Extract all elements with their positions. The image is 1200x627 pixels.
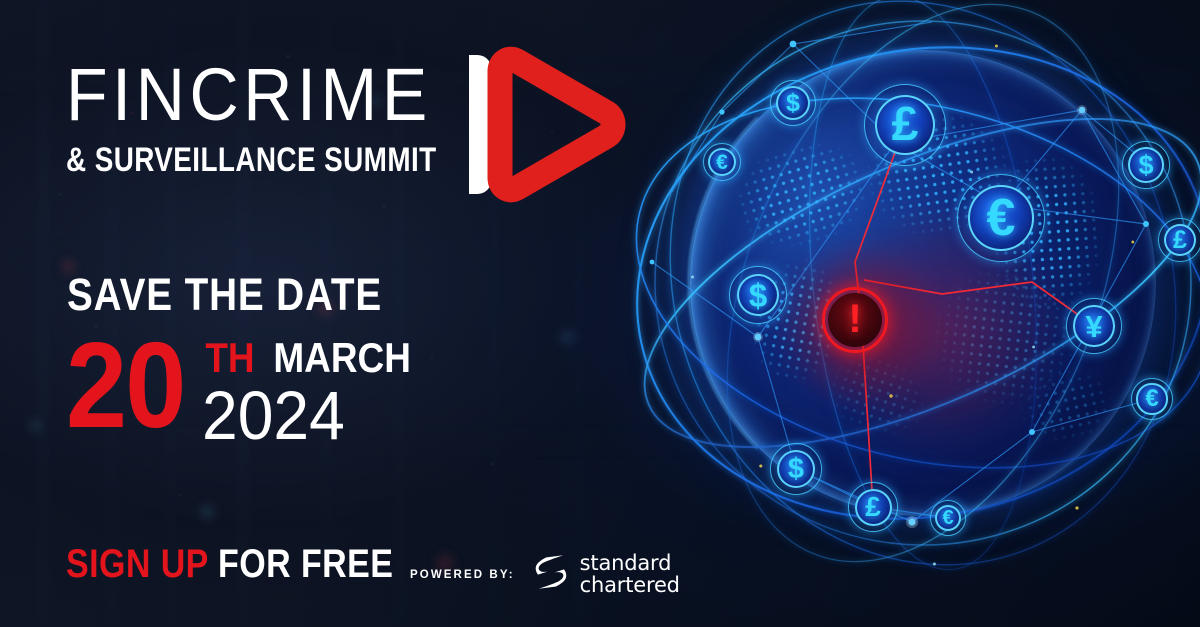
euro-symbol-icon: € (942, 508, 953, 528)
event-year: 2024 (202, 383, 405, 449)
currency-badge-dollar: $ (1122, 141, 1170, 189)
brand-logo (455, 37, 630, 212)
save-the-date-heading: SAVE THE DATE (67, 272, 382, 317)
currency-badge-pound: £ (848, 482, 898, 532)
event-promo-banner: ! $€£$€£$¥€$£€ FINCRIME & SURVEILLANCE S… (0, 0, 1200, 627)
currency-badge-dollar: $ (770, 443, 822, 495)
badge-inner-disc: € (708, 148, 736, 176)
sponsor-block: POWERED BY: standard chartered (410, 552, 680, 597)
standard-chartered-wordmark: standard chartered (580, 553, 680, 596)
event-month: MARCH (273, 337, 411, 379)
dollar-symbol-icon: $ (749, 279, 767, 312)
sponsor-name-line2: chartered (580, 575, 680, 596)
page-subtitle: & SURVEILLANCE SUMMIT (66, 143, 437, 177)
currency-badge-euro: € (703, 143, 741, 181)
dollar-symbol-icon: $ (786, 91, 800, 116)
currency-badge-pound: £ (864, 84, 946, 166)
badge-inner-disc: € (968, 185, 1033, 250)
powered-by-label: POWERED BY: (410, 569, 515, 581)
event-title-block: FINCRIME & SURVEILLANCE SUMMIT (66, 57, 518, 177)
event-date-block: 20 TH MARCH 2024 (66, 333, 420, 449)
page-title: FINCRIME (66, 61, 482, 129)
currency-badge-dollar: $ (770, 80, 816, 126)
badge-inner-disc: € (1136, 383, 1167, 414)
badge-inner-disc: ¥ (1073, 305, 1114, 346)
pound-symbol-icon: £ (1173, 228, 1187, 253)
euro-symbol-icon: € (1145, 387, 1158, 411)
standard-chartered-logo-icon (533, 552, 569, 597)
euro-symbol-icon: € (716, 152, 728, 173)
alert-core: ! (828, 293, 882, 347)
pound-symbol-icon: £ (892, 101, 919, 149)
currency-badge-euro: € (930, 500, 966, 536)
pound-symbol-icon: £ (865, 493, 881, 521)
currency-badge-euro: € (1131, 378, 1173, 420)
badge-inner-disc: $ (776, 86, 810, 120)
sign-up-cta-highlight: SIGN UP (66, 542, 208, 586)
sponsor-name-line1: standard (580, 553, 680, 574)
exclamation-icon: ! (848, 299, 861, 339)
badge-inner-disc: $ (1128, 147, 1164, 183)
badge-inner-disc: £ (855, 489, 892, 526)
event-day-suffix: TH (205, 337, 254, 379)
currency-badge-dollar: $ (729, 266, 787, 324)
event-day: 20 (66, 333, 185, 438)
sign-up-cta[interactable]: SIGN UP FOR FREE (66, 544, 393, 584)
currency-badge-yen: ¥ (1066, 298, 1122, 354)
yen-symbol-icon: ¥ (1085, 311, 1102, 342)
dollar-symbol-icon: $ (1138, 152, 1153, 179)
fraud-alert-badge: ! (822, 287, 888, 353)
currency-badge-euro: € (957, 174, 1045, 262)
sign-up-cta-suffix: FOR FREE (218, 542, 393, 586)
currency-badge-pound: £ (1158, 218, 1200, 262)
euro-symbol-icon: € (987, 192, 1016, 244)
dollar-symbol-icon: $ (788, 455, 804, 484)
content-column: FINCRIME & SURVEILLANCE SUMMIT SAVE THE … (0, 0, 620, 627)
logo-red-play-icon (500, 59, 613, 190)
sign-up-cta-rest (208, 542, 218, 586)
